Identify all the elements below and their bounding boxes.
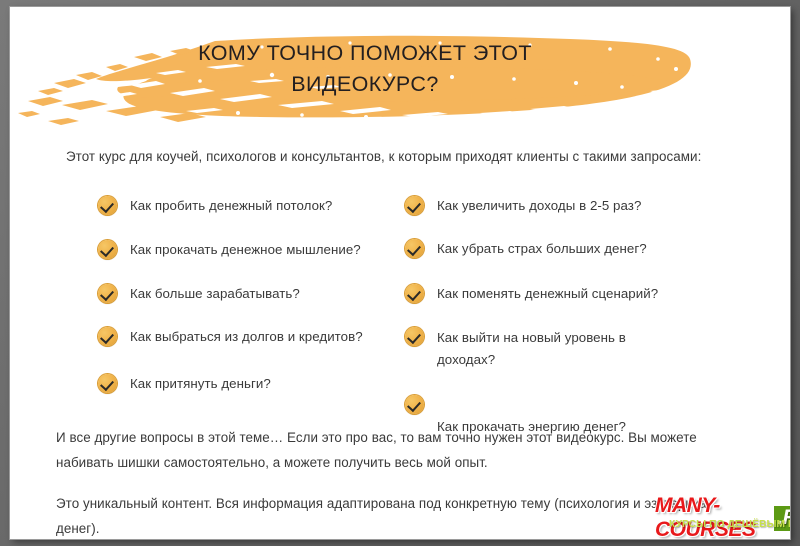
list-item: Как выйти на новый уровень в доходах? bbox=[405, 327, 725, 371]
list-item-label: Как притянуть деньги? bbox=[130, 374, 271, 393]
check-circle-icon bbox=[98, 196, 117, 215]
list-item: Как прокачать денежное мышление? bbox=[98, 240, 413, 259]
check-circle-icon bbox=[98, 240, 117, 259]
list-item-label: Как прокачать денежное мышление? bbox=[130, 240, 361, 259]
outro-paragraph-2: Это уникальный контент. Вся информация а… bbox=[56, 491, 746, 539]
check-circle-icon bbox=[405, 284, 424, 303]
checklist-column-right: Как увеличить доходы в 2-5 раз? Как убра… bbox=[405, 192, 725, 436]
list-item-label: Как увеличить доходы в 2-5 раз? bbox=[437, 196, 641, 215]
list-item: Как притянуть деньги? bbox=[98, 374, 413, 393]
list-item-label: Как выбраться из долгов и кредитов? bbox=[130, 327, 363, 346]
document-page: КОМУ ТОЧНО ПОМОЖЕТ ЭТОТ ВИДЕОКУРС? Этот … bbox=[10, 7, 790, 539]
check-circle-icon bbox=[405, 395, 424, 414]
check-circle-icon bbox=[98, 284, 117, 303]
check-circle-icon bbox=[98, 327, 117, 346]
check-circle-icon bbox=[405, 239, 424, 258]
check-circle-icon bbox=[98, 374, 117, 393]
list-item: Как больше зарабатывать? bbox=[98, 284, 413, 303]
list-item: Как увеличить доходы в 2-5 раз? bbox=[405, 196, 725, 215]
list-item: Как поменять денежный сценарий? bbox=[405, 284, 725, 303]
outro-paragraph-1: И все другие вопросы в этой теме… Если э… bbox=[56, 425, 746, 475]
headline-banner: КОМУ ТОЧНО ПОМОЖЕТ ЭТОТ ВИДЕОКУРС? bbox=[10, 25, 790, 137]
list-item-label: Как больше зарабатывать? bbox=[130, 284, 300, 303]
list-item-label: Как поменять денежный сценарий? bbox=[437, 284, 658, 303]
intro-paragraph: Этот курс для коучей, психологов и консу… bbox=[66, 144, 716, 169]
checklist-column-left: Как пробить денежный потолок? Как прокач… bbox=[98, 192, 413, 393]
list-item-label: Как убрать страх больших денег? bbox=[437, 239, 647, 258]
list-item: Как выбраться из долгов и кредитов? bbox=[98, 327, 413, 346]
check-circle-icon bbox=[405, 196, 424, 215]
list-item-label: Как выйти на новый уровень в доходах? bbox=[437, 327, 662, 371]
list-item: Как убрать страх больших денег? bbox=[405, 239, 725, 258]
list-item: Как пробить денежный потолок? bbox=[98, 196, 413, 215]
watermark-tld: .RU bbox=[774, 506, 790, 531]
check-circle-icon bbox=[405, 327, 424, 346]
list-item-label: Как пробить денежный потолок? bbox=[130, 196, 332, 215]
page-title: КОМУ ТОЧНО ПОМОЖЕТ ЭТОТ ВИДЕОКУРС? bbox=[130, 38, 600, 100]
